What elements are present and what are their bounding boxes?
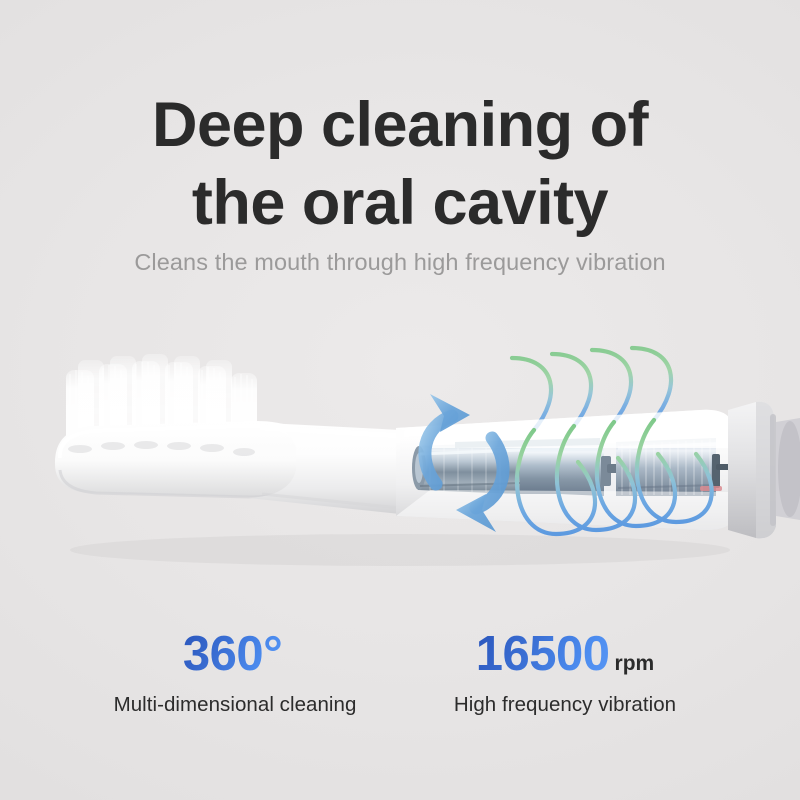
product-illustration: [0, 318, 800, 608]
stat-rotation-label: Multi-dimensional cleaning: [70, 693, 400, 717]
handle-end-cap: [728, 402, 800, 538]
stat-frequency-value-row: 16500 rpm: [400, 628, 730, 680]
stat-frequency: 16500 rpm High frequency vibration: [400, 628, 730, 717]
stat-frequency-number: 16500: [476, 628, 610, 680]
promo-page: Deep cleaning of the oral cavity Cleans …: [0, 0, 800, 800]
stat-frequency-label: High frequency vibration: [400, 693, 730, 717]
stats-row: 360° Multi-dimensional cleaning 16500 rp…: [0, 628, 800, 717]
stat-rotation: 360° Multi-dimensional cleaning: [70, 628, 400, 717]
page-subtitle: Cleans the mouth through high frequency …: [0, 246, 800, 278]
stat-rotation-value-row: 360°: [70, 628, 400, 680]
brush-head-group: [55, 354, 309, 497]
headline-line-2: the oral cavity: [0, 164, 800, 242]
headline-line-1: Deep cleaning of: [0, 86, 800, 164]
stat-frequency-unit: rpm: [615, 649, 655, 679]
page-title: Deep cleaning of the oral cavity: [0, 86, 800, 242]
stat-rotation-number: 360°: [183, 628, 282, 680]
